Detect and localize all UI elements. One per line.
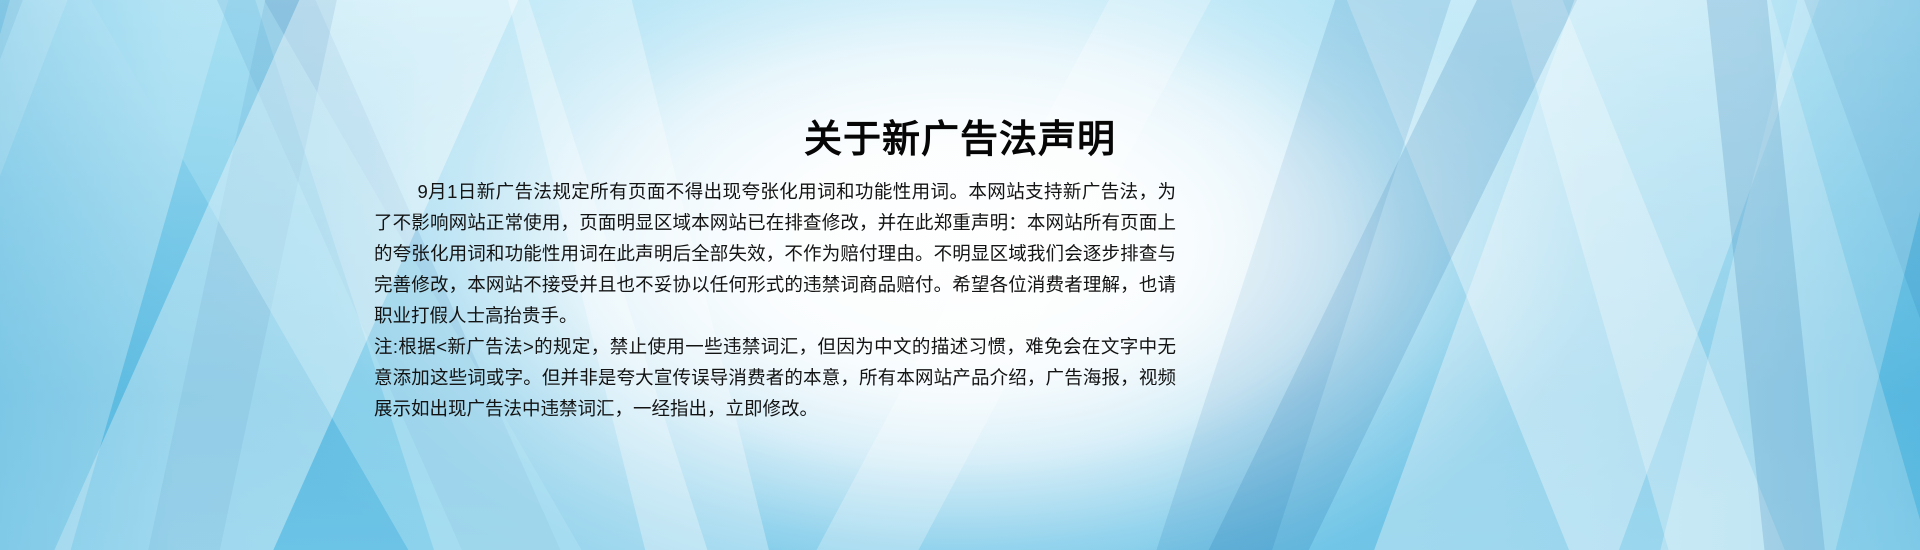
statement-paragraph-2: 注:根据<新广告法>的规定，禁止使用一些违禁词汇，但因为中文的描述习惯，难免会在… bbox=[374, 331, 1176, 424]
statement-body: 9月1日新广告法规定所有页面不得出现夸张化用词和功能性用词。本网站支持新广告法，… bbox=[374, 176, 1176, 424]
advertising-law-statement-banner: 关于新广告法声明 9月1日新广告法规定所有页面不得出现夸张化用词和功能性用词。本… bbox=[0, 0, 1920, 550]
page-title: 关于新广告法声明 bbox=[0, 117, 1920, 165]
statement-content: 关于新广告法声明 9月1日新广告法规定所有页面不得出现夸张化用词和功能性用词。本… bbox=[0, 0, 1920, 550]
statement-paragraph-1: 9月1日新广告法规定所有页面不得出现夸张化用词和功能性用词。本网站支持新广告法，… bbox=[374, 176, 1176, 331]
